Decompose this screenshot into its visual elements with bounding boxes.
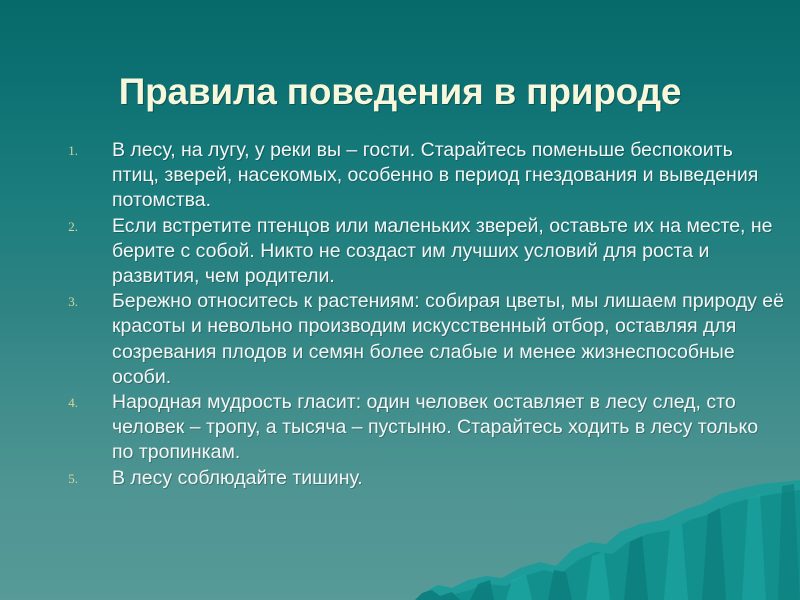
list-item: 1. В лесу, на лугу, у реки вы – гости. С… xyxy=(48,138,784,214)
slide-title: Правила поведения в природе xyxy=(40,69,760,115)
list-item-text: В лесу, на лугу, у реки вы – гости. Стар… xyxy=(112,138,784,214)
list-item-text: Если встретите птенцов или маленьких зве… xyxy=(112,214,784,290)
list-item-text: В лесу соблюдайте тишину. xyxy=(112,466,784,491)
list-item-marker: 3. xyxy=(48,295,78,308)
list-item-text: Народная мудрость гласит: один человек о… xyxy=(112,390,784,466)
list-item: 5. В лесу соблюдайте тишину. xyxy=(48,466,784,491)
list-item-text: Бережно относитесь к растениям: собирая … xyxy=(112,289,784,390)
list-item: 3. Бережно относитесь к растениям: собир… xyxy=(48,289,784,390)
presentation-slide: Правила поведения в природе 1. В лесу, н… xyxy=(0,0,800,600)
list-item: 4. Народная мудрость гласит: один челове… xyxy=(48,390,784,466)
mountain-wave-decoration xyxy=(0,480,800,600)
list-item-marker: 4. xyxy=(48,396,78,409)
list-item-marker: 5. xyxy=(48,472,78,485)
list-item-marker: 1. xyxy=(48,144,78,157)
list-item-marker: 2. xyxy=(48,220,78,233)
rules-list: 1. В лесу, на лугу, у реки вы – гости. С… xyxy=(48,138,784,491)
list-item: 2. Если встретите птенцов или маленьких … xyxy=(48,214,784,290)
